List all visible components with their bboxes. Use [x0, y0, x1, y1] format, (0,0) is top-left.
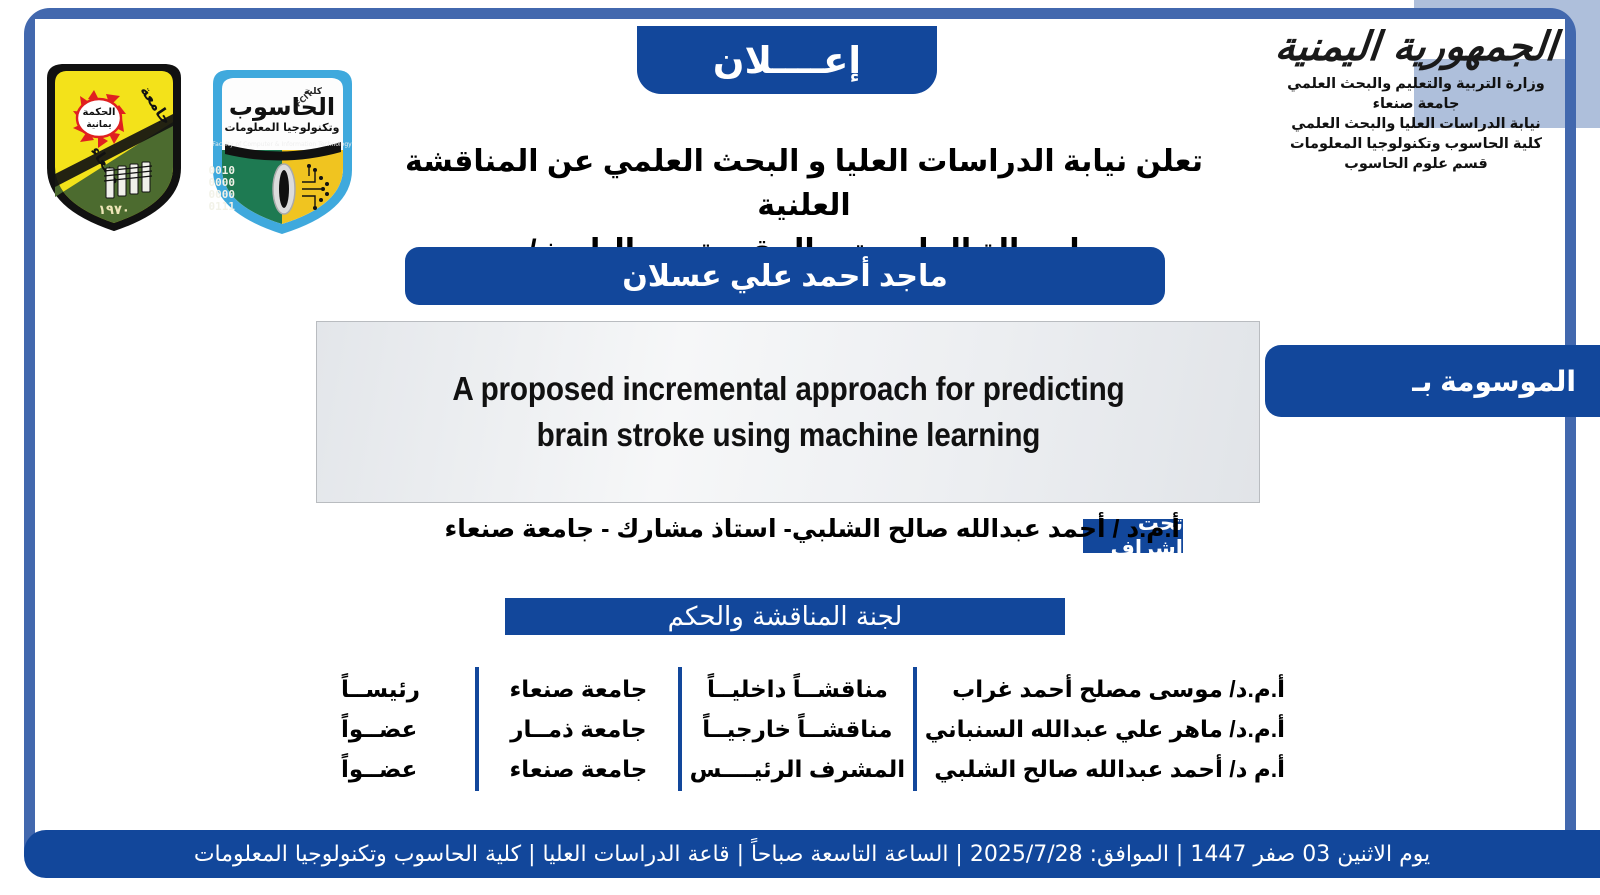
- tagged-label-tab: الموسومة بـ: [1265, 345, 1600, 417]
- committee-cell-position: عضــواً: [335, 709, 467, 749]
- committee-divider: [913, 667, 917, 791]
- identity-line-department: قسم علوم الحاسوب: [1266, 154, 1566, 174]
- committee-heading: لجنة المناقشة والحكم: [505, 598, 1065, 635]
- committee-column-universities: جامعة صنعاء جامعة ذمــار جامعة صنعاء: [487, 665, 670, 793]
- thesis-title-card: A proposed incremental approach for pred…: [316, 321, 1260, 503]
- student-name-banner: ماجد أحمد علي عسلان: [405, 247, 1165, 305]
- svg-text:وتكنولوجيا المعلومات: وتكنولوجيا المعلومات: [224, 121, 339, 134]
- supervisor-name: أ.م.د / أحمد عبدالله صالح الشلبي- استاذ …: [320, 514, 1180, 544]
- svg-text:Faculty of Computer & Informat: Faculty of Computer & Information Techno…: [212, 141, 352, 148]
- svg-text:١٩٧٠: ١٩٧٠: [98, 203, 130, 218]
- identity-line-university: جامعة صنعاء: [1266, 94, 1566, 114]
- institution-identity-block: الجمهورية اليمنية وزارة التربية والتعليم…: [1266, 26, 1566, 174]
- committee-heading-text: لجنة المناقشة والحكم: [668, 602, 903, 632]
- identity-line-deanship: نيابة الدراسات العليا والبحث العلمي: [1266, 114, 1566, 134]
- committee-column-roles: مناقشــاً داخليــاً مناقشــاً خارجيــاً …: [690, 665, 906, 793]
- committee-cell-role: مناقشــاً خارجيــاً: [690, 709, 906, 749]
- committee-cell-university: جامعة صنعاء: [487, 749, 670, 789]
- announcement-poster: الحكمة يمانية جامعة صنعاء ١٩٧٠ FCIT: [0, 0, 1600, 895]
- committee-cell-role: المشرف الرئيــــس: [690, 749, 906, 789]
- tagged-label-text: الموسومة بـ: [1412, 365, 1576, 398]
- committee-divider: [475, 667, 479, 791]
- fcit-logo: FCIT كلية الحاسوب وتكنولوجيا المعلومات F…: [205, 58, 360, 240]
- thesis-title-line-1: A proposed incremental approach for pred…: [452, 366, 1124, 412]
- committee-cell-name: أ.م د/ أحمد عبدالله صالح الشلبي: [925, 749, 1285, 789]
- footer-text: يوم الاثنين 03 صفر 1447 | الموافق: 2025/…: [194, 842, 1430, 867]
- svg-text:يمانية: يمانية: [86, 120, 111, 130]
- committee-cell-university: جامعة صنعاء: [487, 669, 670, 709]
- announcement-title-banner: إعــــلان: [637, 26, 937, 94]
- committee-cell-name: أ.م.د/ موسى مصلح أحمد غراب: [925, 669, 1285, 709]
- committee-column-positions: رئيســاً عضــواً عضــواً: [335, 665, 467, 793]
- announcement-title-text: إعــــلان: [713, 39, 861, 82]
- committee-divider: [678, 667, 682, 791]
- identity-line-faculty: كلية الحاسوب وتكنولوجيا المعلومات: [1266, 134, 1566, 154]
- committee-column-names: أ.م.د/ موسى مصلح أحمد غراب أ.م.د/ ماهر ع…: [925, 665, 1295, 793]
- republic-calligraphy: الجمهورية اليمنية: [1264, 26, 1568, 68]
- committee-cell-name: أ.م.د/ ماهر علي عبدالله السنباني: [925, 709, 1285, 749]
- svg-text:الحاسوب: الحاسوب: [229, 93, 335, 121]
- committee-cell-position: رئيســاً: [335, 669, 467, 709]
- committee-cell-role: مناقشــاً داخليــاً: [690, 669, 906, 709]
- thesis-title-line-2: brain stroke using machine learning: [452, 412, 1124, 458]
- student-name: ماجد أحمد علي عسلان: [622, 259, 948, 294]
- sanaa-university-logo: الحكمة يمانية جامعة صنعاء ١٩٧٠: [40, 56, 188, 236]
- committee-cell-position: عضــواً: [335, 749, 467, 789]
- announcement-body-line-1: تعلن نيابة الدراسات العليا و البحث العلم…: [404, 140, 1204, 229]
- svg-text:الحكمة: الحكمة: [83, 107, 116, 118]
- footer-bar: يوم الاثنين 03 صفر 1447 | الموافق: 2025/…: [24, 830, 1600, 878]
- committee-cell-university: جامعة ذمــار: [487, 709, 670, 749]
- svg-text:0111: 0111: [209, 200, 236, 213]
- identity-line-ministry: وزارة التربية والتعليم والبحث العلمي: [1266, 74, 1566, 94]
- committee-table: أ.م.د/ موسى مصلح أحمد غراب أ.م.د/ ماهر ع…: [335, 665, 1295, 793]
